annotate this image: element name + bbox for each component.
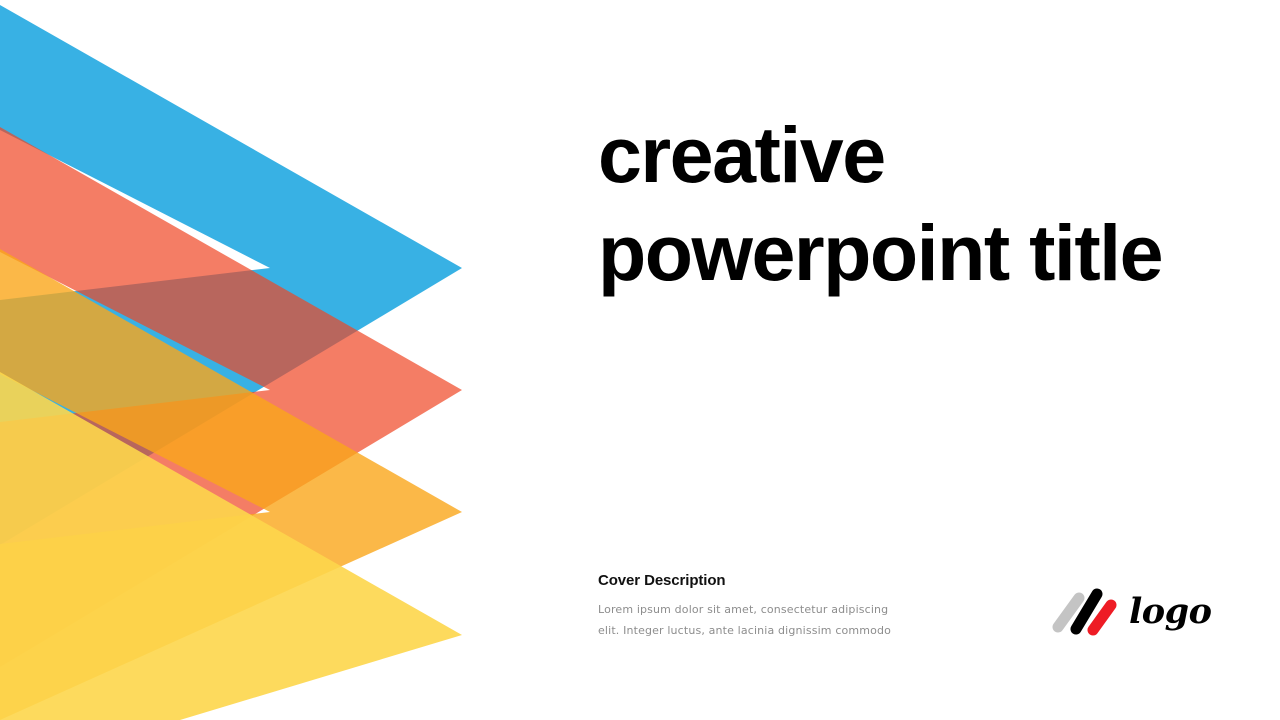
page-title: creative powerpoint title <box>598 106 1238 302</box>
logo-wordmark: logo <box>1129 594 1211 629</box>
logo-bar-red-icon <box>1093 605 1111 630</box>
logo: logo <box>1049 586 1211 636</box>
slide-canvas: creative powerpoint title Cover Descript… <box>0 0 1280 720</box>
cover-description-line-1: Lorem ipsum dolor sit amet, consectetur … <box>598 599 928 620</box>
title-line-1: creative <box>598 106 1238 204</box>
decorative-chevron-graphic <box>0 0 470 720</box>
cover-description-heading: Cover Description <box>598 571 928 590</box>
logo-mark-icon <box>1049 586 1121 636</box>
title-line-2: powerpoint title <box>598 204 1238 302</box>
cover-description-line-2: elit. Integer luctus, ante lacinia digni… <box>598 620 928 641</box>
cover-description: Cover Description Lorem ipsum dolor sit … <box>598 571 928 641</box>
